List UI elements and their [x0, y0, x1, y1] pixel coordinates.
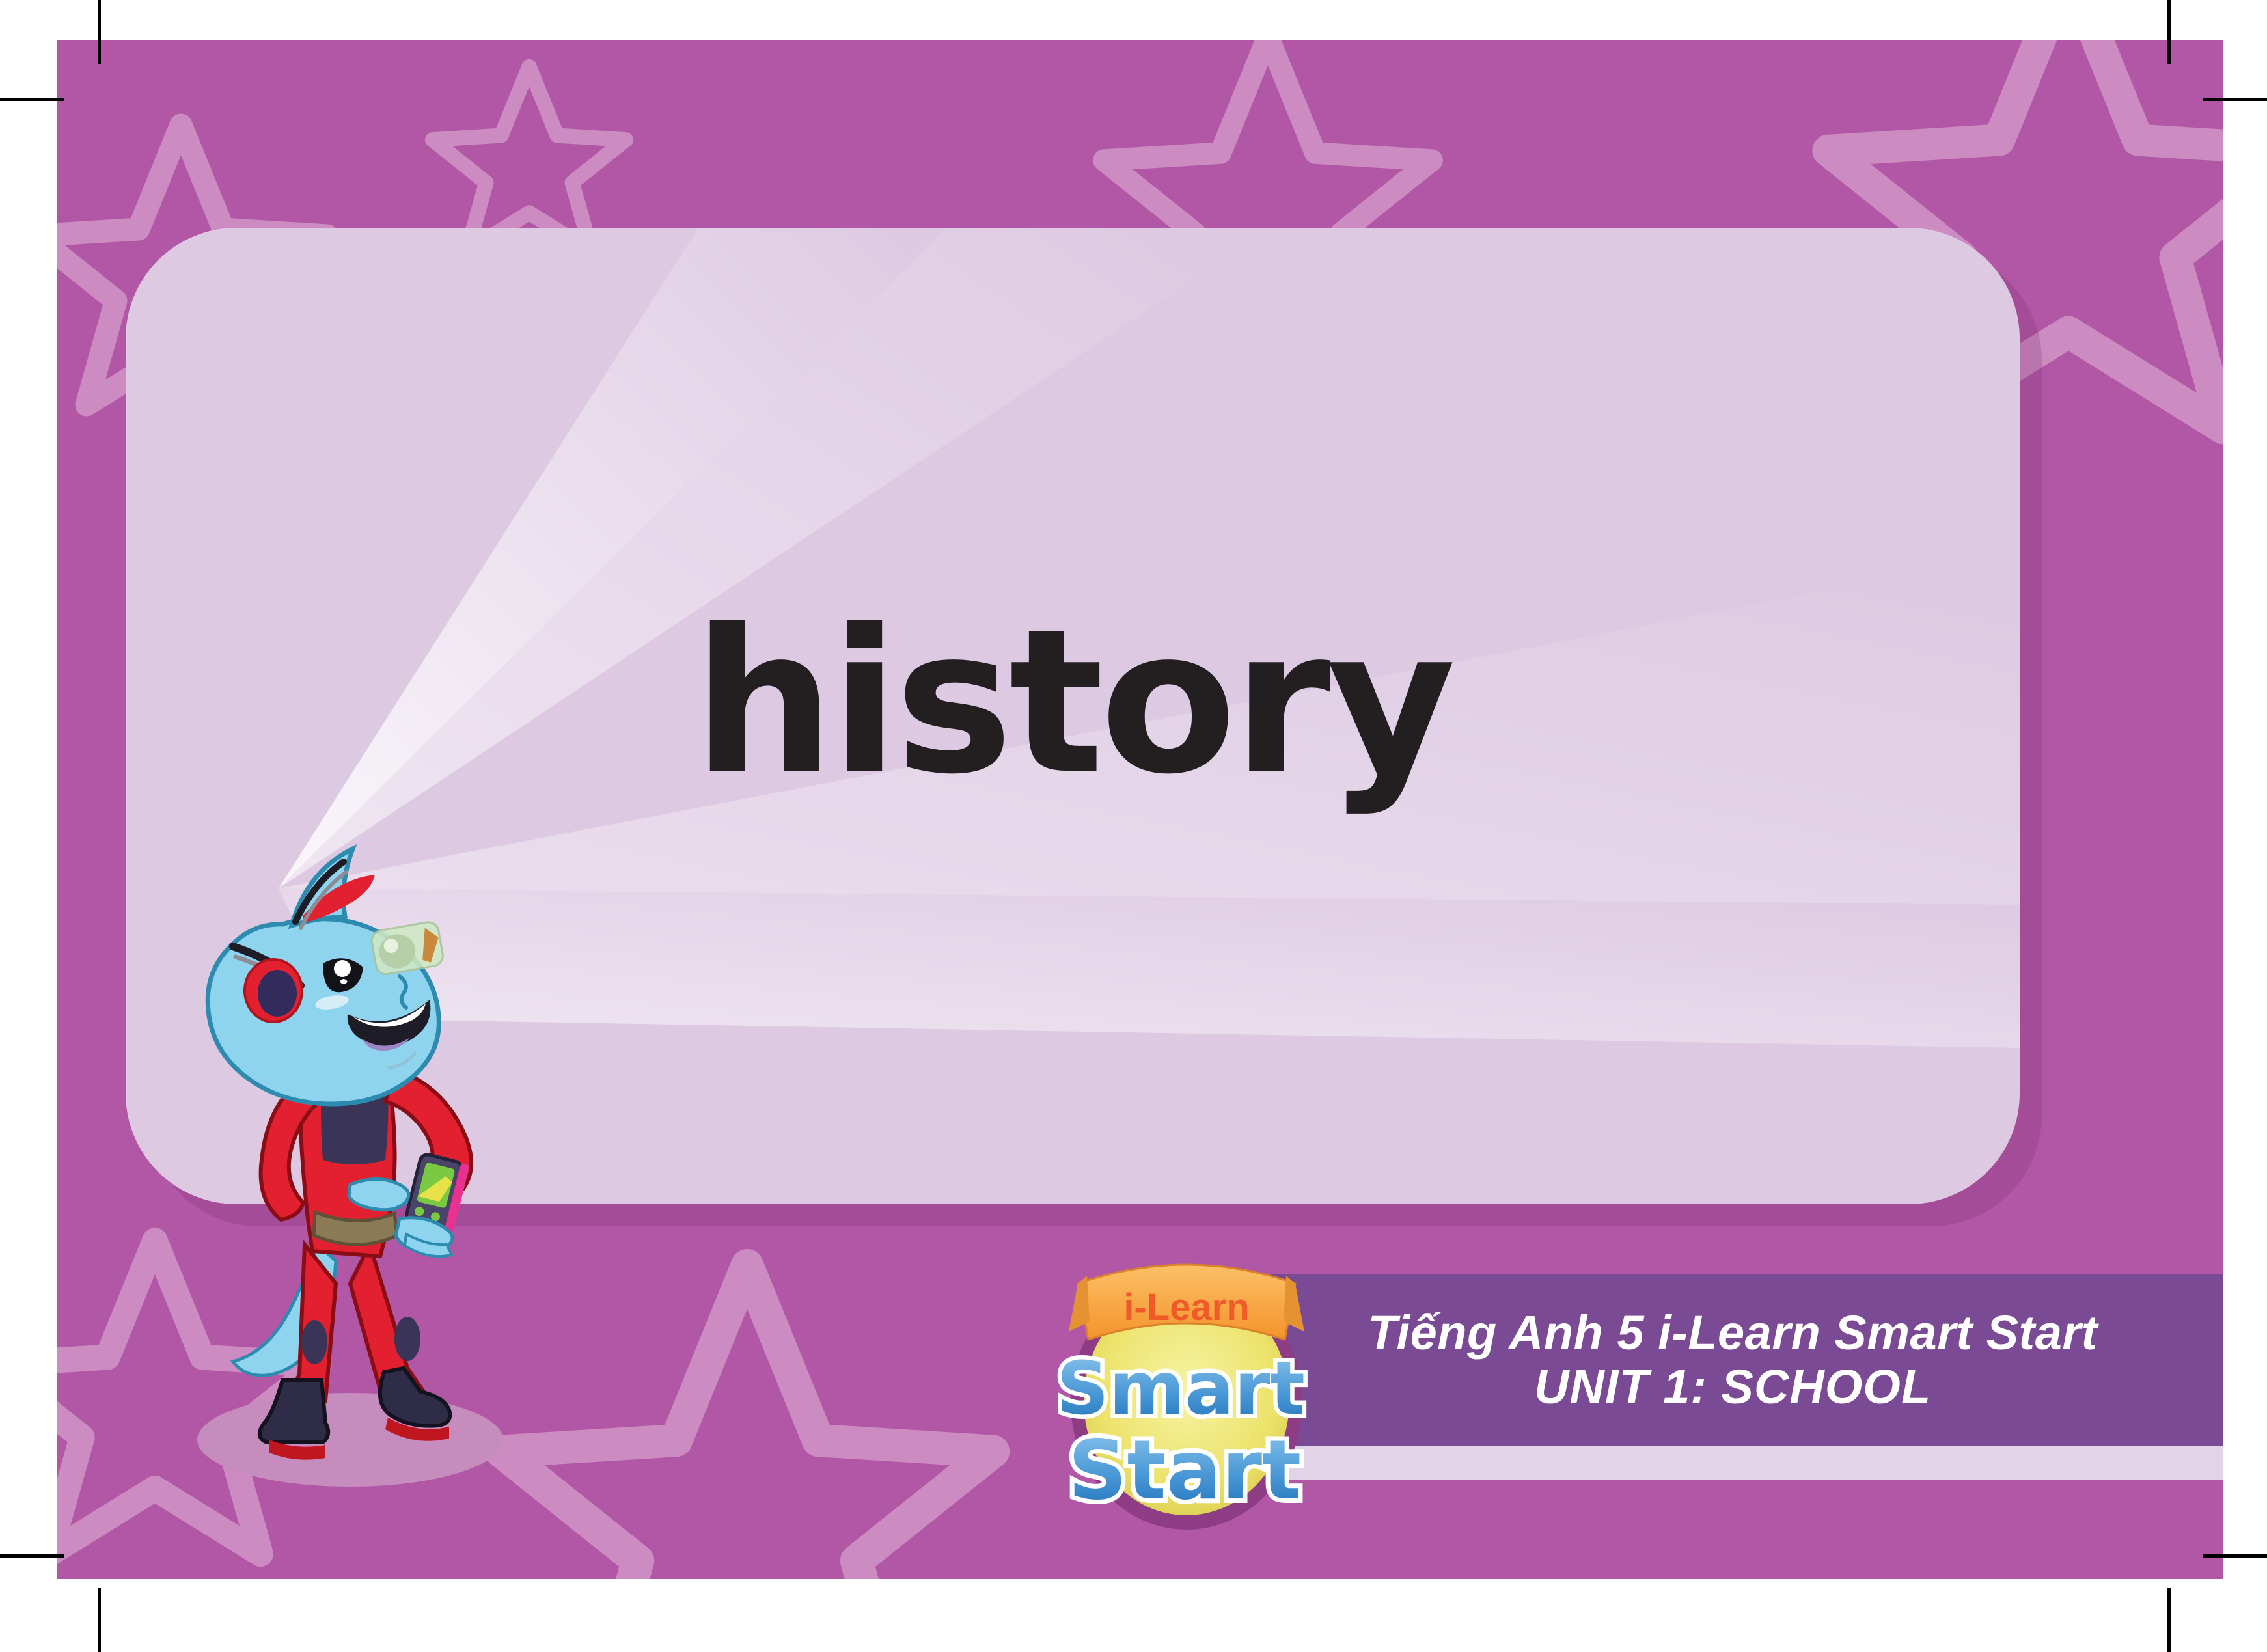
unit-banner-text: Tiếng Anh 5 i-Learn Smart Start UNIT 1: … — [1242, 1274, 2223, 1446]
unit-banner: Tiếng Anh 5 i-Learn Smart Start UNIT 1: … — [1242, 1274, 2223, 1446]
logo-word-start: Start — [1068, 1422, 1301, 1518]
logo-word-smart: Smart — [1056, 1347, 1305, 1431]
smart-start-logo: i-Learn Smart Start — [1047, 1238, 1326, 1544]
crop-mark-bottom-right-vertical — [2167, 1588, 2171, 1652]
slide-page: history — [57, 40, 2223, 1579]
crop-mark-bottom-right-horizontal — [2203, 1554, 2267, 1558]
unit-banner-underline — [1242, 1446, 2223, 1480]
logo-ribbon-text: i-Learn — [1123, 1286, 1249, 1328]
course-title: Tiếng Anh 5 i-Learn Smart Start — [1367, 1306, 2098, 1360]
crop-mark-bottom-left-horizontal — [0, 1554, 64, 1558]
crop-mark-top-right-vertical — [2167, 0, 2171, 64]
crop-mark-top-left-vertical — [98, 0, 101, 64]
alien-mascot-illustration — [155, 828, 558, 1498]
unit-title: UNIT 1: SCHOOL — [1534, 1360, 1931, 1414]
crop-mark-bottom-left-vertical — [98, 1588, 101, 1652]
crop-mark-top-left-horizontal — [0, 98, 64, 101]
crop-mark-top-right-horizontal — [2203, 98, 2267, 101]
